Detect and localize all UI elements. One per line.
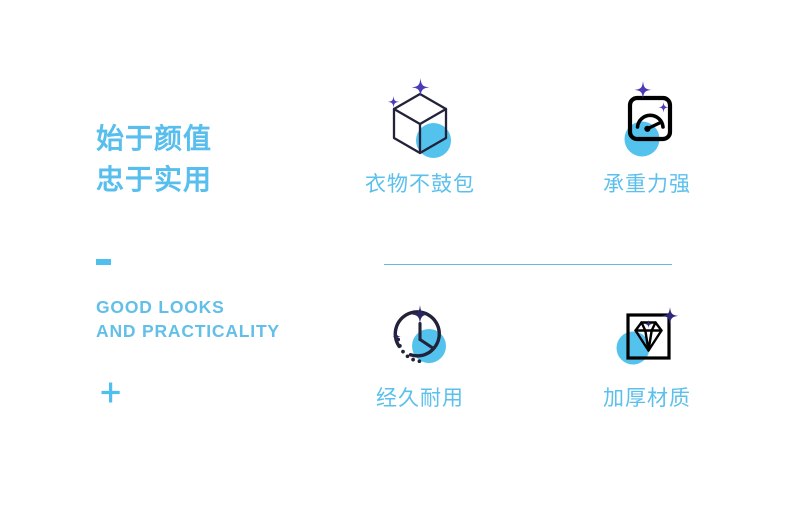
- plus-marker-icon: [100, 380, 122, 406]
- clock-icon: [330, 288, 510, 380]
- feature-caption: 经久耐用: [330, 386, 510, 412]
- feature-item-gauge: 承重力强: [557, 72, 737, 198]
- dash-marker-icon: [96, 259, 111, 265]
- headline-line-1: 始于颜值: [96, 118, 336, 159]
- gauge-icon: [557, 72, 737, 164]
- cube-icon: [330, 72, 510, 164]
- headline-line-2: 忠于实用: [96, 159, 336, 200]
- feature-caption: 加厚材质: [557, 386, 737, 412]
- feature-item-clock: 经久耐用: [330, 288, 510, 412]
- diamond-icon: [557, 288, 737, 380]
- feature-caption: 衣物不鼓包: [330, 172, 510, 198]
- feature-item-diamond: 加厚材质: [557, 288, 737, 412]
- feature-caption: 承重力强: [557, 172, 737, 198]
- feature-banner: 始于颜值 忠于实用 GOOD LOOKS AND PRACTICALITY: [0, 0, 790, 528]
- feature-item-cube: 衣物不鼓包: [330, 72, 510, 198]
- headline-block: 始于颜值 忠于实用: [96, 118, 336, 200]
- horizontal-divider: [384, 264, 672, 265]
